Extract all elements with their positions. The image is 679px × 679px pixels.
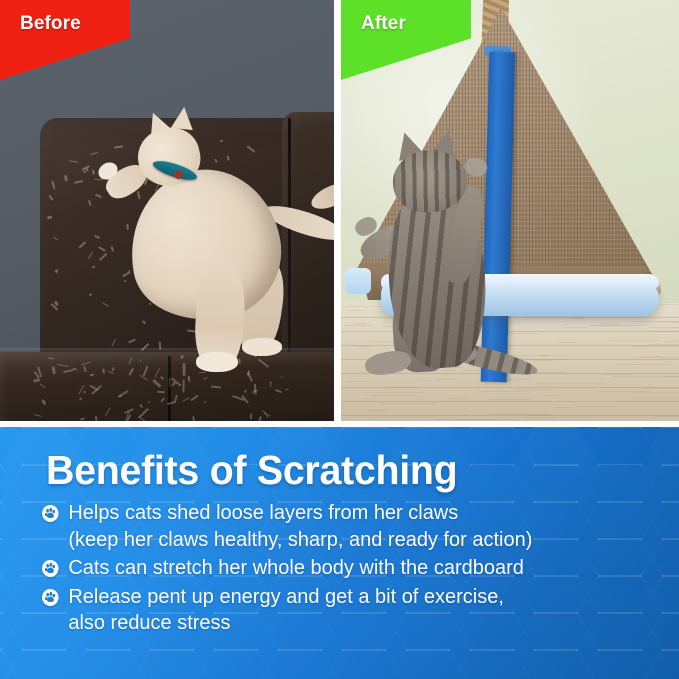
before-cat-hind-paw-far [242, 338, 282, 356]
list-item-line-1: Helps cats shed loose layers from her cl… [68, 501, 458, 524]
list-item: Release pent up energy and get a bit of … [42, 584, 663, 637]
after-photo: After [341, 0, 679, 421]
page-title: Benefits of Scratching [46, 447, 654, 494]
before-after-photo-row: Before [0, 0, 679, 427]
seat-scratch-marks [30, 360, 290, 420]
before-cat-collar-tag [174, 170, 183, 179]
benefits-banner: Benefits of Scratching Helps cats shed l… [0, 427, 679, 679]
list-item: Cats can stretch her whole body with the… [42, 555, 663, 582]
list-item-line-2: (keep her claws healthy, sharp, and read… [68, 527, 663, 554]
before-badge-label: Before [0, 0, 81, 35]
before-cat-hind-paw [196, 352, 238, 372]
scratcher-shelf-left-stub [345, 268, 371, 294]
paw-icon [42, 505, 59, 522]
before-photo: Before [0, 0, 334, 421]
before-cat-ear-right [171, 106, 195, 130]
paw-icon [42, 589, 59, 606]
banner-content: Benefits of Scratching Helps cats shed l… [0, 427, 679, 637]
list-item-line-2: also reduce stress [68, 610, 663, 637]
list-item-line-1: Cats can stretch her whole body with the… [68, 556, 524, 579]
paw-icon [42, 560, 59, 577]
benefits-list: Helps cats shed loose layers from her cl… [0, 500, 679, 637]
after-badge-label: After [341, 0, 406, 35]
list-item-line-1: Release pent up energy and get a bit of … [68, 585, 504, 608]
product-benefits-infographic: Before [0, 0, 679, 679]
list-item: Helps cats shed loose layers from her cl… [42, 500, 663, 553]
